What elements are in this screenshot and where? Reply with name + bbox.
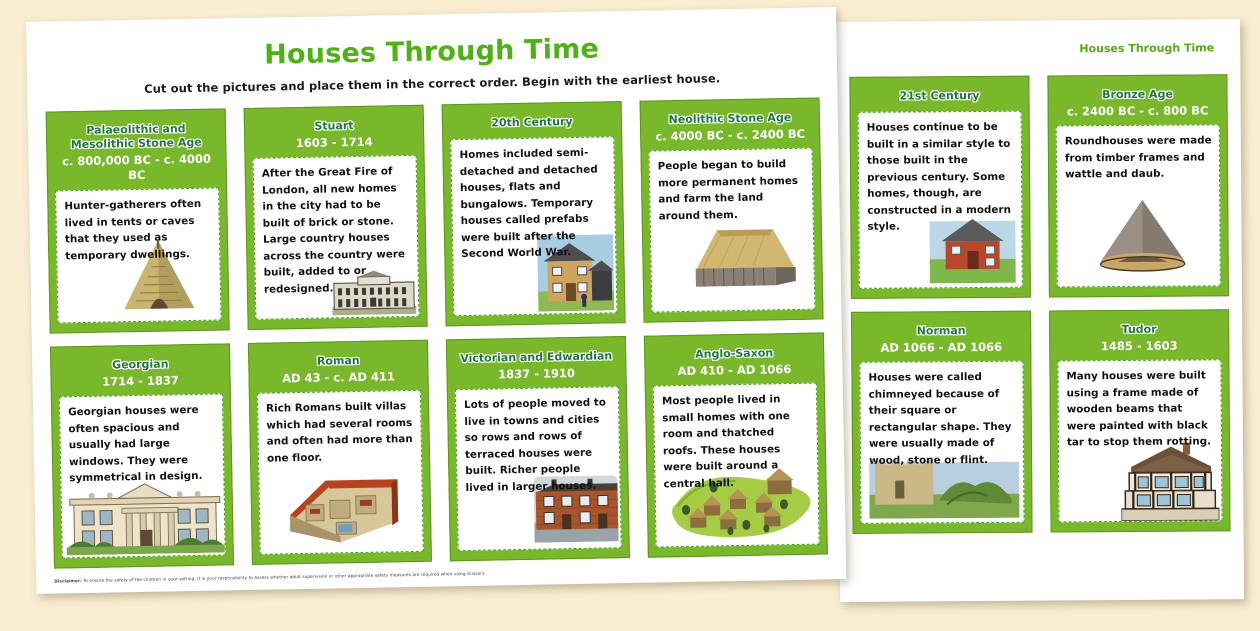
- card-norman[interactable]: Norman AD 1066 - AD 1066 Houses were cal…: [851, 311, 1033, 534]
- bronze-roundhouse-icon: [1087, 197, 1198, 276]
- card-body: Lots of people moved to live in towns an…: [455, 386, 622, 551]
- card-header: Tudor 1485 - 1603: [1057, 317, 1221, 360]
- card-stuart[interactable]: Stuart 1603 - 1714 After the Great Fire …: [244, 105, 428, 330]
- card-20th-century[interactable]: 20th Century Homes included semi-detache…: [442, 101, 626, 326]
- credit-label: twinkl.com: [1012, 527, 1028, 531]
- card-header: Stuart 1603 - 1714: [252, 113, 417, 158]
- card-text: Hunter-gatherers often lived in tents or…: [64, 196, 212, 265]
- page-subtitle: Cut out the pictures and place them in t…: [27, 69, 837, 98]
- disclaimer: Disclaimer: To ensure the safety of the …: [54, 564, 828, 584]
- card-21st-century[interactable]: 21st Century Houses continue to be built…: [849, 76, 1031, 299]
- card-bronze-age[interactable]: Bronze Age c. 2400 BC - c. 800 BC Roundh…: [1047, 74, 1229, 297]
- card-body: Houses were called chimneyed because of …: [859, 361, 1024, 524]
- card-neolithic-stone-age[interactable]: Neolithic Stone Age c. 4000 BC - c. 2400…: [640, 97, 824, 322]
- card-body: Georgian houses were often spacious and …: [59, 393, 226, 558]
- card-body: Homes included semi-detached and detache…: [450, 136, 617, 316]
- card-dates-label: 1837 - 1910: [456, 365, 616, 383]
- card-era-label: Tudor: [1059, 322, 1219, 337]
- card-georgian[interactable]: Georgian 1714 - 1837 Georgian houses wer…: [50, 343, 234, 568]
- credit-label: twinkl.com: [214, 559, 230, 563]
- card-era-label: Victorian and Edwardian: [456, 349, 616, 366]
- card-dates-label: 1714 - 1837: [60, 372, 220, 390]
- card-header: 20th Century: [450, 109, 614, 139]
- card-header: Georgian 1714 - 1837: [58, 351, 223, 396]
- card-palaeolithic-mesolithic[interactable]: Palaeolithic and Mesolithic Stone Age c.…: [46, 108, 230, 333]
- card-era-label: Roman: [258, 353, 418, 370]
- front-worksheet-page[interactable]: Houses Through Time Cut out the pictures…: [26, 7, 846, 594]
- card-body: People began to build more permanent hom…: [648, 148, 815, 313]
- card-text: Georgian houses were often spacious and …: [68, 402, 216, 487]
- card-header: Bronze Age c. 2400 BC - c. 800 BC: [1055, 82, 1219, 125]
- credit-label: twinkl.com: [803, 314, 819, 318]
- credit-label: twinkl.com: [1011, 292, 1027, 296]
- card-text: Rich Romans built villas which had sever…: [266, 398, 414, 467]
- card-dates-label: 1603 - 1714: [254, 134, 414, 152]
- credit-label: twinkl.com: [610, 552, 626, 556]
- card-text: Many houses were built using a frame mad…: [1066, 367, 1214, 451]
- card-dates-label: [860, 105, 1020, 106]
- disclaimer-text: To ensure the safety of the children in …: [83, 571, 486, 583]
- card-header: 21st Century: [857, 84, 1021, 112]
- card-header: Norman AD 1066 - AD 1066: [859, 319, 1023, 362]
- card-era-label: Stuart: [254, 118, 414, 135]
- card-era-label: Palaeolithic and Mesolithic Stone Age: [56, 122, 216, 153]
- credit-label: twinkl.com: [209, 324, 225, 328]
- card-body: Hunter-gatherers often lived in tents or…: [55, 187, 221, 323]
- card-dates-label: c. 800,000 BC - c. 4000 BC: [56, 152, 217, 185]
- card-victorian-edwardian[interactable]: Victorian and Edwardian 1837 - 1910 Lots…: [446, 336, 630, 561]
- card-body: After the Great Fire of London, all new …: [253, 155, 420, 320]
- credit-label: twinkl.com: [807, 548, 823, 552]
- card-era-label: Georgian: [60, 356, 220, 373]
- card-text: Houses continue to be built in a similar…: [867, 119, 1015, 236]
- card-header: Roman AD 43 - c. AD 411: [256, 348, 421, 393]
- card-dates-label: c. 4000 BC - c. 2400 BC: [650, 127, 810, 145]
- card-dates-label: AD 43 - c. AD 411: [258, 369, 418, 387]
- credit-label: twinkl.com: [605, 317, 621, 321]
- card-tudor[interactable]: Tudor 1485 - 1603 Many houses were built…: [1049, 309, 1231, 532]
- card-text: After the Great Fire of London, all new …: [262, 163, 411, 298]
- card-text: Lots of people moved to live in towns an…: [464, 394, 613, 496]
- credit-label: twinkl.com: [1210, 525, 1226, 529]
- card-anglo-saxon[interactable]: Anglo-Saxon AD 410 - AD 1066 Most people…: [644, 332, 828, 557]
- card-text: Homes included semi-detached and detache…: [459, 144, 608, 262]
- card-dates-label: AD 1066 - AD 1066: [861, 340, 1021, 356]
- card-era-label: Neolithic Stone Age: [650, 111, 810, 128]
- card-body: Many houses were built using a frame mad…: [1057, 359, 1222, 522]
- back-card-grid: 21st Century Houses continue to be built…: [836, 74, 1243, 534]
- credit-label: twinkl.com: [407, 321, 423, 325]
- card-body: Houses continue to be built in a similar…: [858, 111, 1023, 289]
- page-title: Houses Through Time: [26, 29, 836, 75]
- card-roman[interactable]: Roman AD 43 - c. AD 411 Rich Romans buil…: [248, 340, 432, 565]
- card-header: Neolithic Stone Age c. 4000 BC - c. 2400…: [648, 106, 813, 151]
- georgian-mansion-icon: [65, 480, 224, 555]
- card-era-label: Anglo-Saxon: [654, 346, 814, 363]
- card-header: Palaeolithic and Mesolithic Stone Age c.…: [54, 117, 219, 191]
- card-text: Most people lived in small homes with on…: [662, 391, 811, 493]
- thatched-longhouse-icon: [673, 221, 800, 289]
- card-dates-label: AD 410 - AD 1066: [654, 362, 814, 380]
- card-text: People began to build more permanent hom…: [658, 156, 806, 225]
- card-body: Roundhouses were made from timber frames…: [1056, 124, 1221, 287]
- disclaimer-label: Disclaimer:: [54, 578, 82, 584]
- card-era-label: 20th Century: [452, 114, 612, 131]
- screenshot-stage: Houses Through Time 21st Century Houses …: [0, 0, 1260, 631]
- card-header: Anglo-Saxon AD 410 - AD 1066: [652, 341, 817, 386]
- card-era-label: Norman: [861, 324, 1021, 339]
- front-card-grid: Palaeolithic and Mesolithic Stone Age c.…: [28, 97, 846, 569]
- card-dates-label: c. 2400 BC - c. 800 BC: [1058, 103, 1218, 119]
- roman-villa-cutaway-icon: [279, 459, 407, 547]
- card-body: Most people lived in small homes with on…: [653, 383, 820, 548]
- card-text: Houses were called chimneyed because of …: [868, 369, 1016, 469]
- card-dates-label: 1485 - 1603: [1059, 338, 1219, 354]
- credit-label: twinkl.com: [412, 556, 428, 560]
- back-worksheet-page[interactable]: Houses Through Time 21st Century Houses …: [836, 19, 1244, 602]
- back-page-header: Houses Through Time: [836, 19, 1240, 57]
- card-era-label: Bronze Age: [1057, 87, 1217, 102]
- tudor-house-icon: [1121, 440, 1220, 521]
- card-body: Rich Romans built villas which had sever…: [257, 390, 424, 555]
- card-era-label: 21st Century: [859, 89, 1019, 104]
- card-text: Roundhouses were made from timber frames…: [1065, 132, 1212, 183]
- card-header: Victorian and Edwardian 1837 - 1910: [454, 344, 619, 389]
- credit-label: twinkl.com: [1209, 290, 1225, 294]
